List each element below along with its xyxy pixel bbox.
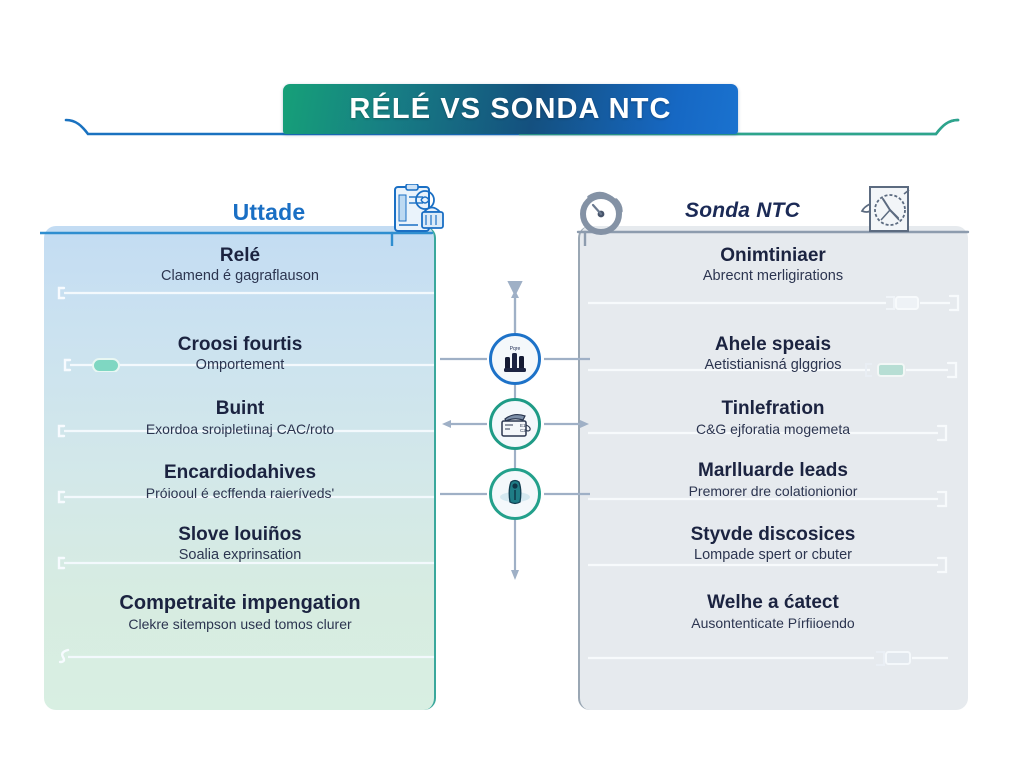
- item-title: Tinlefration: [578, 398, 968, 419]
- item-subtitle: Abrecnt merligirations: [578, 268, 968, 285]
- item-subtitle: Omportement: [44, 357, 436, 374]
- printer-icon: E1 C2: [496, 407, 534, 441]
- center-badge-1[interactable]: Pqre: [489, 333, 541, 385]
- center-connector-column: Pqre E1 C2: [440, 270, 590, 600]
- clipboard-basket-icon: [388, 184, 450, 240]
- page-title-banner: RÉLÉ VS SONDA NTC: [283, 84, 738, 134]
- item-subtitle: Clamend é gagraflauson: [44, 268, 436, 285]
- list-item[interactable]: Competraite impengation Clekre sitempson…: [44, 592, 436, 633]
- item-title: Encardiodahives: [44, 462, 436, 483]
- svg-text:Pqre: Pqre: [510, 346, 521, 352]
- center-badge-2[interactable]: E1 C2: [489, 398, 541, 450]
- list-item[interactable]: Buint Exordoa sroipletiınaj CAC/roto: [44, 398, 436, 438]
- list-item[interactable]: Marlluarde leads Premorer dre colationio…: [578, 460, 968, 500]
- list-item[interactable]: Welhe a ćatect Ausontenticate Pírfiioend…: [578, 592, 968, 632]
- center-badge-3[interactable]: [489, 468, 541, 520]
- right-column-header: Sonda NTC: [575, 184, 920, 238]
- left-column-header: Uttade: [150, 186, 450, 238]
- list-item[interactable]: Tinlefration C&G ejforatia mogemeta: [578, 398, 968, 438]
- item-title: Welhe a ćatect: [578, 592, 968, 613]
- item-title: Ahele speais: [578, 334, 968, 355]
- list-item[interactable]: Croosi fourtis Omportement: [44, 334, 436, 375]
- list-item[interactable]: Relé Clamend é gagraflauson: [44, 245, 436, 286]
- list-item[interactable]: Encardiodahives Próiooul é ecffenda raie…: [44, 462, 436, 502]
- item-title: Marlluarde leads: [578, 460, 968, 481]
- right-column-title: Sonda NTC: [685, 199, 800, 222]
- left-column-title: Uttade: [233, 199, 306, 225]
- item-title: Croosi fourtis: [44, 334, 436, 355]
- list-item[interactable]: Styvde discosices Lompade spert or cbute…: [578, 524, 968, 565]
- right-connector-1: [586, 292, 966, 314]
- page-title: RÉLÉ VS SONDA NTC: [349, 93, 671, 126]
- left-connector-6: [56, 648, 436, 664]
- item-subtitle: Ausontenticate Pírfiioendo: [578, 615, 968, 632]
- item-title: Slove louiños: [44, 524, 436, 545]
- item-subtitle: Exordoa sroipletiınaj CAC/roto: [44, 421, 436, 438]
- item-subtitle: Próiooul é ecffenda raieríveds': [44, 485, 436, 502]
- item-title: Onimtiniaer: [578, 245, 968, 266]
- item-subtitle: C&G ejforatia mogemeta: [578, 421, 968, 438]
- bar-chart-icon: Pqre: [498, 342, 532, 376]
- list-item[interactable]: Onimtiniaer Abrecnt merligirations: [578, 245, 968, 286]
- item-subtitle: Clekre sitempson used tomos clurer: [44, 616, 436, 633]
- svg-text:C2: C2: [520, 428, 526, 433]
- item-title: Styvde discosices: [578, 524, 968, 545]
- left-connector-1: [56, 286, 436, 300]
- list-item[interactable]: Slove louiños Soalia exprinsation: [44, 524, 436, 565]
- item-title: Competraite impengation: [44, 592, 436, 614]
- gauge-icon: [575, 185, 629, 237]
- item-subtitle: Aetistianisná glggrios: [578, 357, 968, 374]
- item-subtitle: Soalia exprinsation: [44, 547, 436, 564]
- list-item[interactable]: Ahele speais Aetistianisná glggrios: [578, 334, 968, 375]
- document-clock-icon: [856, 184, 920, 238]
- item-title: Relé: [44, 245, 436, 266]
- right-connector-6: [586, 648, 966, 670]
- device-icon: [498, 477, 532, 511]
- item-subtitle: Premorer dre colationionior: [578, 483, 968, 500]
- item-subtitle: Lompade spert or cbuter: [578, 547, 968, 564]
- item-title: Buint: [44, 398, 436, 419]
